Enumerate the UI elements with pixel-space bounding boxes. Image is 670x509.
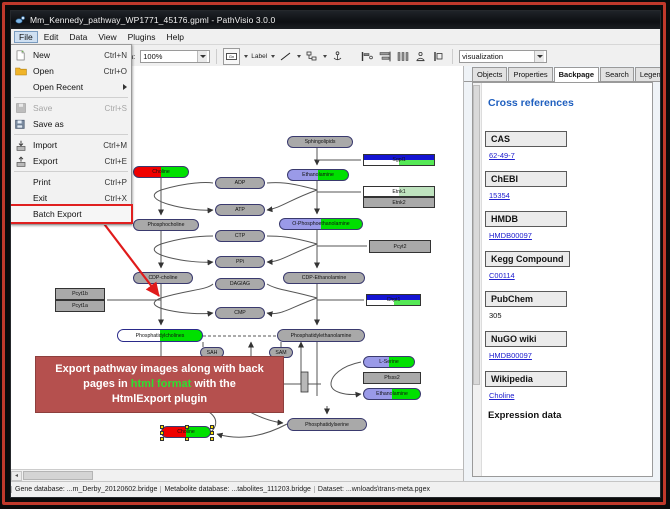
- selection-handle[interactable]: [210, 437, 214, 441]
- menu-item-label: Save: [28, 103, 105, 113]
- menu-item-print[interactable]: PrintCtrl+P: [11, 174, 131, 190]
- tab-objects[interactable]: Objects: [472, 67, 507, 81]
- pathway-node-label: Phosphatidylcholines: [136, 333, 185, 339]
- expression-data-heading: Expression data: [488, 410, 646, 421]
- menu-item-label: Export: [28, 156, 105, 166]
- menu-item-label: Open Recent: [28, 82, 127, 92]
- pathway-node-label: SAH: [207, 350, 218, 356]
- xref-group-pubchem: PubChem305: [485, 289, 646, 320]
- backpage-content: Cross references CAS62-49-7ChEBI15354HMD…: [481, 83, 652, 476]
- xref-link[interactable]: HMDB00097: [489, 351, 646, 360]
- no-icon: [13, 81, 28, 94]
- sidebar-tabs: Objects Properties Backpage Search Legen…: [464, 66, 660, 82]
- pathway-node-label: Choline: [177, 429, 195, 435]
- pathway-node-label: Etnk2: [392, 200, 405, 206]
- xref-link[interactable]: 15354: [489, 191, 646, 200]
- pathway-node-etnk1[interactable]: Etnk1: [363, 186, 435, 197]
- pathway-node-choline[interactable]: Choline: [133, 166, 189, 178]
- menu-item-import[interactable]: ImportCtrl+M: [11, 137, 131, 153]
- pathway-node-phosphatidylserine[interactable]: Phosphatidylserine: [287, 418, 367, 431]
- chevron-down-icon[interactable]: [197, 51, 207, 62]
- right-sidebar: Objects Properties Backpage Search Legen…: [464, 66, 660, 481]
- menu-item-label: Print: [28, 177, 105, 187]
- pathway-node-label: O-Phosphoethanolamine: [292, 221, 349, 227]
- status-metabolite-database: Metabolite database: ...tabolites_111203…: [160, 486, 313, 493]
- pathway-node-label: CMP: [234, 310, 246, 316]
- pathway-node-label: Phosphatidylethanolamine: [291, 333, 352, 339]
- distribute-icon[interactable]: [395, 49, 410, 64]
- pathway-node-label: Ethanolamine: [376, 391, 408, 397]
- xref-group-heading: ChEBI: [485, 171, 567, 187]
- callout-line-2-highlight: html format: [131, 378, 192, 390]
- menubar: File Edit Data View Plugins Help: [11, 29, 660, 45]
- pathway-node-phosphatidylethanolamine[interactable]: Phosphatidylethanolamine: [277, 329, 365, 342]
- visualization-combobox[interactable]: visualization: [459, 50, 547, 63]
- backpage-panel: Cross references CAS62-49-7ChEBI15354HMD…: [472, 82, 653, 477]
- xref-link[interactable]: 62-49-7: [489, 151, 646, 160]
- pathway-node-ppi[interactable]: PPi: [215, 256, 265, 268]
- pathway-node-label: Phosphatidylserine: [305, 422, 349, 428]
- file-menu-popup: NewCtrl+NOpenCtrl+OOpen RecentSaveCtrl+S…: [10, 44, 132, 225]
- menu-item-accelerator: Ctrl+N: [104, 51, 131, 60]
- group-icon[interactable]: [413, 49, 428, 64]
- callout-line-2-pre: pages in: [83, 378, 131, 390]
- xref-group-heading: NuGO wiki: [485, 331, 567, 347]
- selection-handle[interactable]: [185, 437, 189, 441]
- export-icon: [13, 155, 28, 168]
- tab-backpage[interactable]: Backpage: [554, 67, 599, 82]
- menu-data[interactable]: Data: [64, 31, 92, 43]
- menu-separator: [14, 171, 128, 172]
- status-gene-database: Gene database: ...m_Derby_20120602.bridg…: [11, 486, 160, 493]
- pathway-node-atp[interactable]: ATP: [215, 204, 265, 216]
- xref-group-wikipedia: WikipediaCholine: [485, 369, 646, 400]
- selection-handle[interactable]: [160, 431, 164, 435]
- tab-search[interactable]: Search: [600, 67, 634, 81]
- pathway-node-pfsss2[interactable]: Pfsss2: [363, 372, 421, 384]
- xref-group-heading: Kegg Compound: [485, 251, 570, 267]
- menu-file[interactable]: File: [14, 31, 38, 43]
- import-icon: [13, 139, 28, 152]
- menu-item-accelerator: Ctrl+X: [105, 194, 131, 203]
- align-center-icon[interactable]: [377, 49, 392, 64]
- window-title: Mm_Kennedy_pathway_WP1771_45176.gpml - P…: [30, 15, 275, 25]
- menu-item-label: Save as: [28, 119, 127, 129]
- screenshot-root: Mm_Kennedy_pathway_WP1771_45176.gpml - P…: [0, 0, 670, 509]
- line-tool-icon[interactable]: [278, 49, 293, 64]
- menu-item-accelerator: Ctrl+O: [104, 67, 131, 76]
- pathway-node-label: CTP: [235, 233, 245, 239]
- pathway-node-ethanolamine[interactable]: Ethanolamine: [287, 169, 349, 181]
- pathvisio-app-icon: [15, 15, 26, 26]
- no-icon: [13, 192, 28, 205]
- save-as-icon: [13, 118, 28, 131]
- label-dropdown-icon[interactable]: [271, 55, 275, 58]
- zoom-value: 100%: [143, 52, 197, 61]
- pathway-node-sgpl1[interactable]: Sgpl1: [363, 154, 435, 166]
- xref-link[interactable]: HMDB00097: [489, 231, 646, 240]
- xref-group-hmdb: HMDBHMDB00097: [485, 209, 646, 240]
- menu-item-label: Import: [28, 140, 103, 150]
- pathway-node-label: Sgpl1: [392, 157, 405, 163]
- pathway-node-label: Pcyt2: [394, 244, 407, 250]
- line-dropdown-icon[interactable]: [297, 55, 301, 58]
- tab-properties[interactable]: Properties: [508, 67, 552, 81]
- pathway-node-sphingolipids[interactable]: Sphingolipids: [287, 136, 353, 148]
- pathway-node-label: Pcyt1a: [72, 303, 88, 309]
- menu-item-open[interactable]: OpenCtrl+O: [11, 63, 131, 79]
- pathway-node-o-phosphoethanolamine[interactable]: O-Phosphoethanolamine: [279, 218, 363, 230]
- callout-line-2-post: with the: [191, 378, 236, 390]
- visualization-value: visualization: [462, 52, 534, 61]
- menu-item-exit[interactable]: ExitCtrl+X: [11, 190, 131, 206]
- callout-line-1: Export pathway images along with back: [55, 363, 263, 375]
- menu-item-save-as[interactable]: Save as: [11, 116, 131, 132]
- cross-references-list: CAS62-49-7ChEBI15354HMDBHMDB00097Kegg Co…: [485, 129, 646, 400]
- pathway-node-l-serine[interactable]: L-Serine: [363, 356, 415, 368]
- menu-item-accelerator: Ctrl+M: [103, 141, 131, 150]
- anchor-tool-icon[interactable]: [330, 49, 345, 64]
- menu-item-label: Open: [28, 66, 104, 76]
- menu-separator: [14, 134, 128, 135]
- pathway-node-label: Phosphocholine: [148, 222, 185, 228]
- align-left-icon[interactable]: [359, 49, 374, 64]
- pathway-node-label: CDP-choline: [148, 275, 177, 281]
- pathway-node-label: DAGIAG: [230, 281, 250, 287]
- selection-handle[interactable]: [210, 425, 214, 429]
- selection-handle[interactable]: [160, 425, 164, 429]
- xref-group-chebi: ChEBI15354: [485, 169, 646, 200]
- pathway-node-label: Sphingolipids: [305, 139, 336, 145]
- xref-group-nugo-wiki: NuGO wikiHMDB00097: [485, 329, 646, 360]
- pathway-node-label: ADP: [235, 180, 246, 186]
- statusbar: Gene database: ...m_Derby_20120602.bridg…: [11, 481, 660, 497]
- pathway-node-phosphocholine[interactable]: Phosphocholine: [133, 219, 199, 231]
- menu-item-batch-export[interactable]: Batch Export: [11, 206, 131, 222]
- xref-group-heading: PubChem: [485, 291, 567, 307]
- xref-group-kegg-compound: Kegg CompoundC00114: [485, 249, 646, 280]
- pathway-node-label: Pcyt1b: [72, 291, 88, 297]
- pathway-node-cdp-choline[interactable]: CDP-choline: [133, 272, 193, 284]
- new-document-icon: [13, 49, 28, 62]
- pathway-node-ethanolamine[interactable]: Ethanolamine: [363, 388, 421, 400]
- no-icon: [13, 208, 28, 221]
- status-dataset: Dataset: ...wnloads\trans-meta.pgex: [314, 486, 433, 493]
- order-icon[interactable]: [431, 49, 446, 64]
- menu-item-export[interactable]: ExportCtrl+E: [11, 153, 131, 169]
- pathway-node-choline[interactable]: Choline: [161, 426, 211, 438]
- xref-group-heading: Wikipedia: [485, 371, 567, 387]
- pathway-node-label: Etnk1: [392, 189, 405, 195]
- menu-item-accelerator: Ctrl+E: [105, 157, 131, 166]
- pathway-node-cmp[interactable]: CMP: [215, 307, 265, 319]
- menu-plugins[interactable]: Plugins: [123, 31, 161, 43]
- pathway-node-label: ATP: [235, 207, 245, 213]
- pathway-node-label: SAM: [275, 350, 286, 356]
- cross-references-heading: Cross references: [488, 97, 646, 109]
- open-folder-icon: [13, 65, 28, 78]
- menu-item-label: New: [28, 50, 104, 60]
- menu-help[interactable]: Help: [162, 31, 189, 43]
- scrollbar-thumb[interactable]: [473, 85, 480, 385]
- svg-text:Gn: Gn: [229, 54, 234, 59]
- pathway-node-label: CDP-Ethanolamine: [302, 275, 346, 281]
- annotation-callout: Export pathway images along with back pa…: [35, 356, 284, 413]
- selection-handle[interactable]: [160, 437, 164, 441]
- pathway-node-ctp[interactable]: CTP: [215, 230, 265, 242]
- pathway-node-label: L-Serine: [379, 359, 399, 365]
- xref-group-cas: CAS62-49-7: [485, 129, 646, 160]
- menu-item-save: SaveCtrl+S: [11, 100, 131, 116]
- pathway-node-cdp-ethanolamine[interactable]: CDP-Ethanolamine: [283, 272, 365, 284]
- menu-edit[interactable]: Edit: [39, 31, 64, 43]
- xref-link[interactable]: C00114: [489, 271, 646, 280]
- pathway-node-label: Pfsss2: [384, 375, 400, 381]
- menu-item-new[interactable]: NewCtrl+N: [11, 47, 131, 63]
- label-tool-label[interactable]: Label: [251, 53, 267, 60]
- pathway-node-pcyt1a[interactable]: Pcyt1a: [55, 300, 105, 312]
- callout-line-3: HtmlExport plugin: [112, 393, 207, 405]
- scrollbar-thumb[interactable]: [23, 471, 93, 480]
- zoom-combobox[interactable]: 100%: [140, 50, 210, 63]
- scroll-left-arrow-icon[interactable]: ◂: [11, 471, 22, 481]
- pathway-node-chpt1[interactable]: Chpt1: [366, 294, 421, 306]
- pathvisio-window: Mm_Kennedy_pathway_WP1771_45176.gpml - P…: [10, 10, 661, 498]
- xref-group-heading: CAS: [485, 131, 567, 147]
- menu-view[interactable]: View: [93, 31, 121, 43]
- pathway-node-adp[interactable]: ADP: [215, 177, 265, 189]
- pathway-node-label: Chpt1: [387, 297, 401, 303]
- pathway-node-etnk2[interactable]: Etnk2: [363, 197, 435, 208]
- xref-group-heading: HMDB: [485, 211, 567, 227]
- selection-handle[interactable]: [185, 425, 189, 429]
- xref-link[interactable]: Choline: [489, 391, 646, 400]
- menu-item-open-recent[interactable]: Open Recent: [11, 79, 131, 95]
- pathway-node-pcyt2[interactable]: Pcyt2: [369, 240, 431, 253]
- menu-item-label: Batch Export: [28, 209, 127, 219]
- selection-handle[interactable]: [210, 431, 214, 435]
- no-icon: [13, 176, 28, 189]
- menu-item-label: Exit: [28, 193, 105, 203]
- pathway-node-phosphatidylcholines[interactable]: Phosphatidylcholines: [117, 329, 203, 342]
- pathway-node-label: Ethanolamine: [302, 172, 334, 178]
- tab-legend[interactable]: Legend: [635, 67, 661, 81]
- pathway-node-dagiag[interactable]: DAGIAG: [215, 278, 265, 290]
- datanode-dropdown-icon[interactable]: [244, 55, 248, 58]
- interaction-tool-icon[interactable]: [304, 49, 319, 64]
- pathway-node-pcyt1b[interactable]: Pcyt1b: [55, 288, 105, 300]
- save-disk-icon: [13, 102, 28, 115]
- chevron-down-icon[interactable]: [534, 51, 544, 62]
- menu-item-accelerator: Ctrl+S: [105, 104, 131, 113]
- menu-item-accelerator: Ctrl+P: [105, 178, 131, 187]
- xref-value: 305: [489, 311, 646, 320]
- interaction-dropdown-icon[interactable]: [323, 55, 327, 58]
- canvas-horizontal-scrollbar[interactable]: ◂: [11, 469, 463, 481]
- datanode-icon[interactable]: Gn: [223, 48, 240, 65]
- pathway-node-label: Choline: [152, 169, 170, 175]
- submenu-arrow-icon: [123, 84, 127, 90]
- window-titlebar: Mm_Kennedy_pathway_WP1771_45176.gpml - P…: [11, 11, 660, 29]
- pathway-node-label: PPi: [236, 259, 244, 265]
- menu-separator: [14, 97, 128, 98]
